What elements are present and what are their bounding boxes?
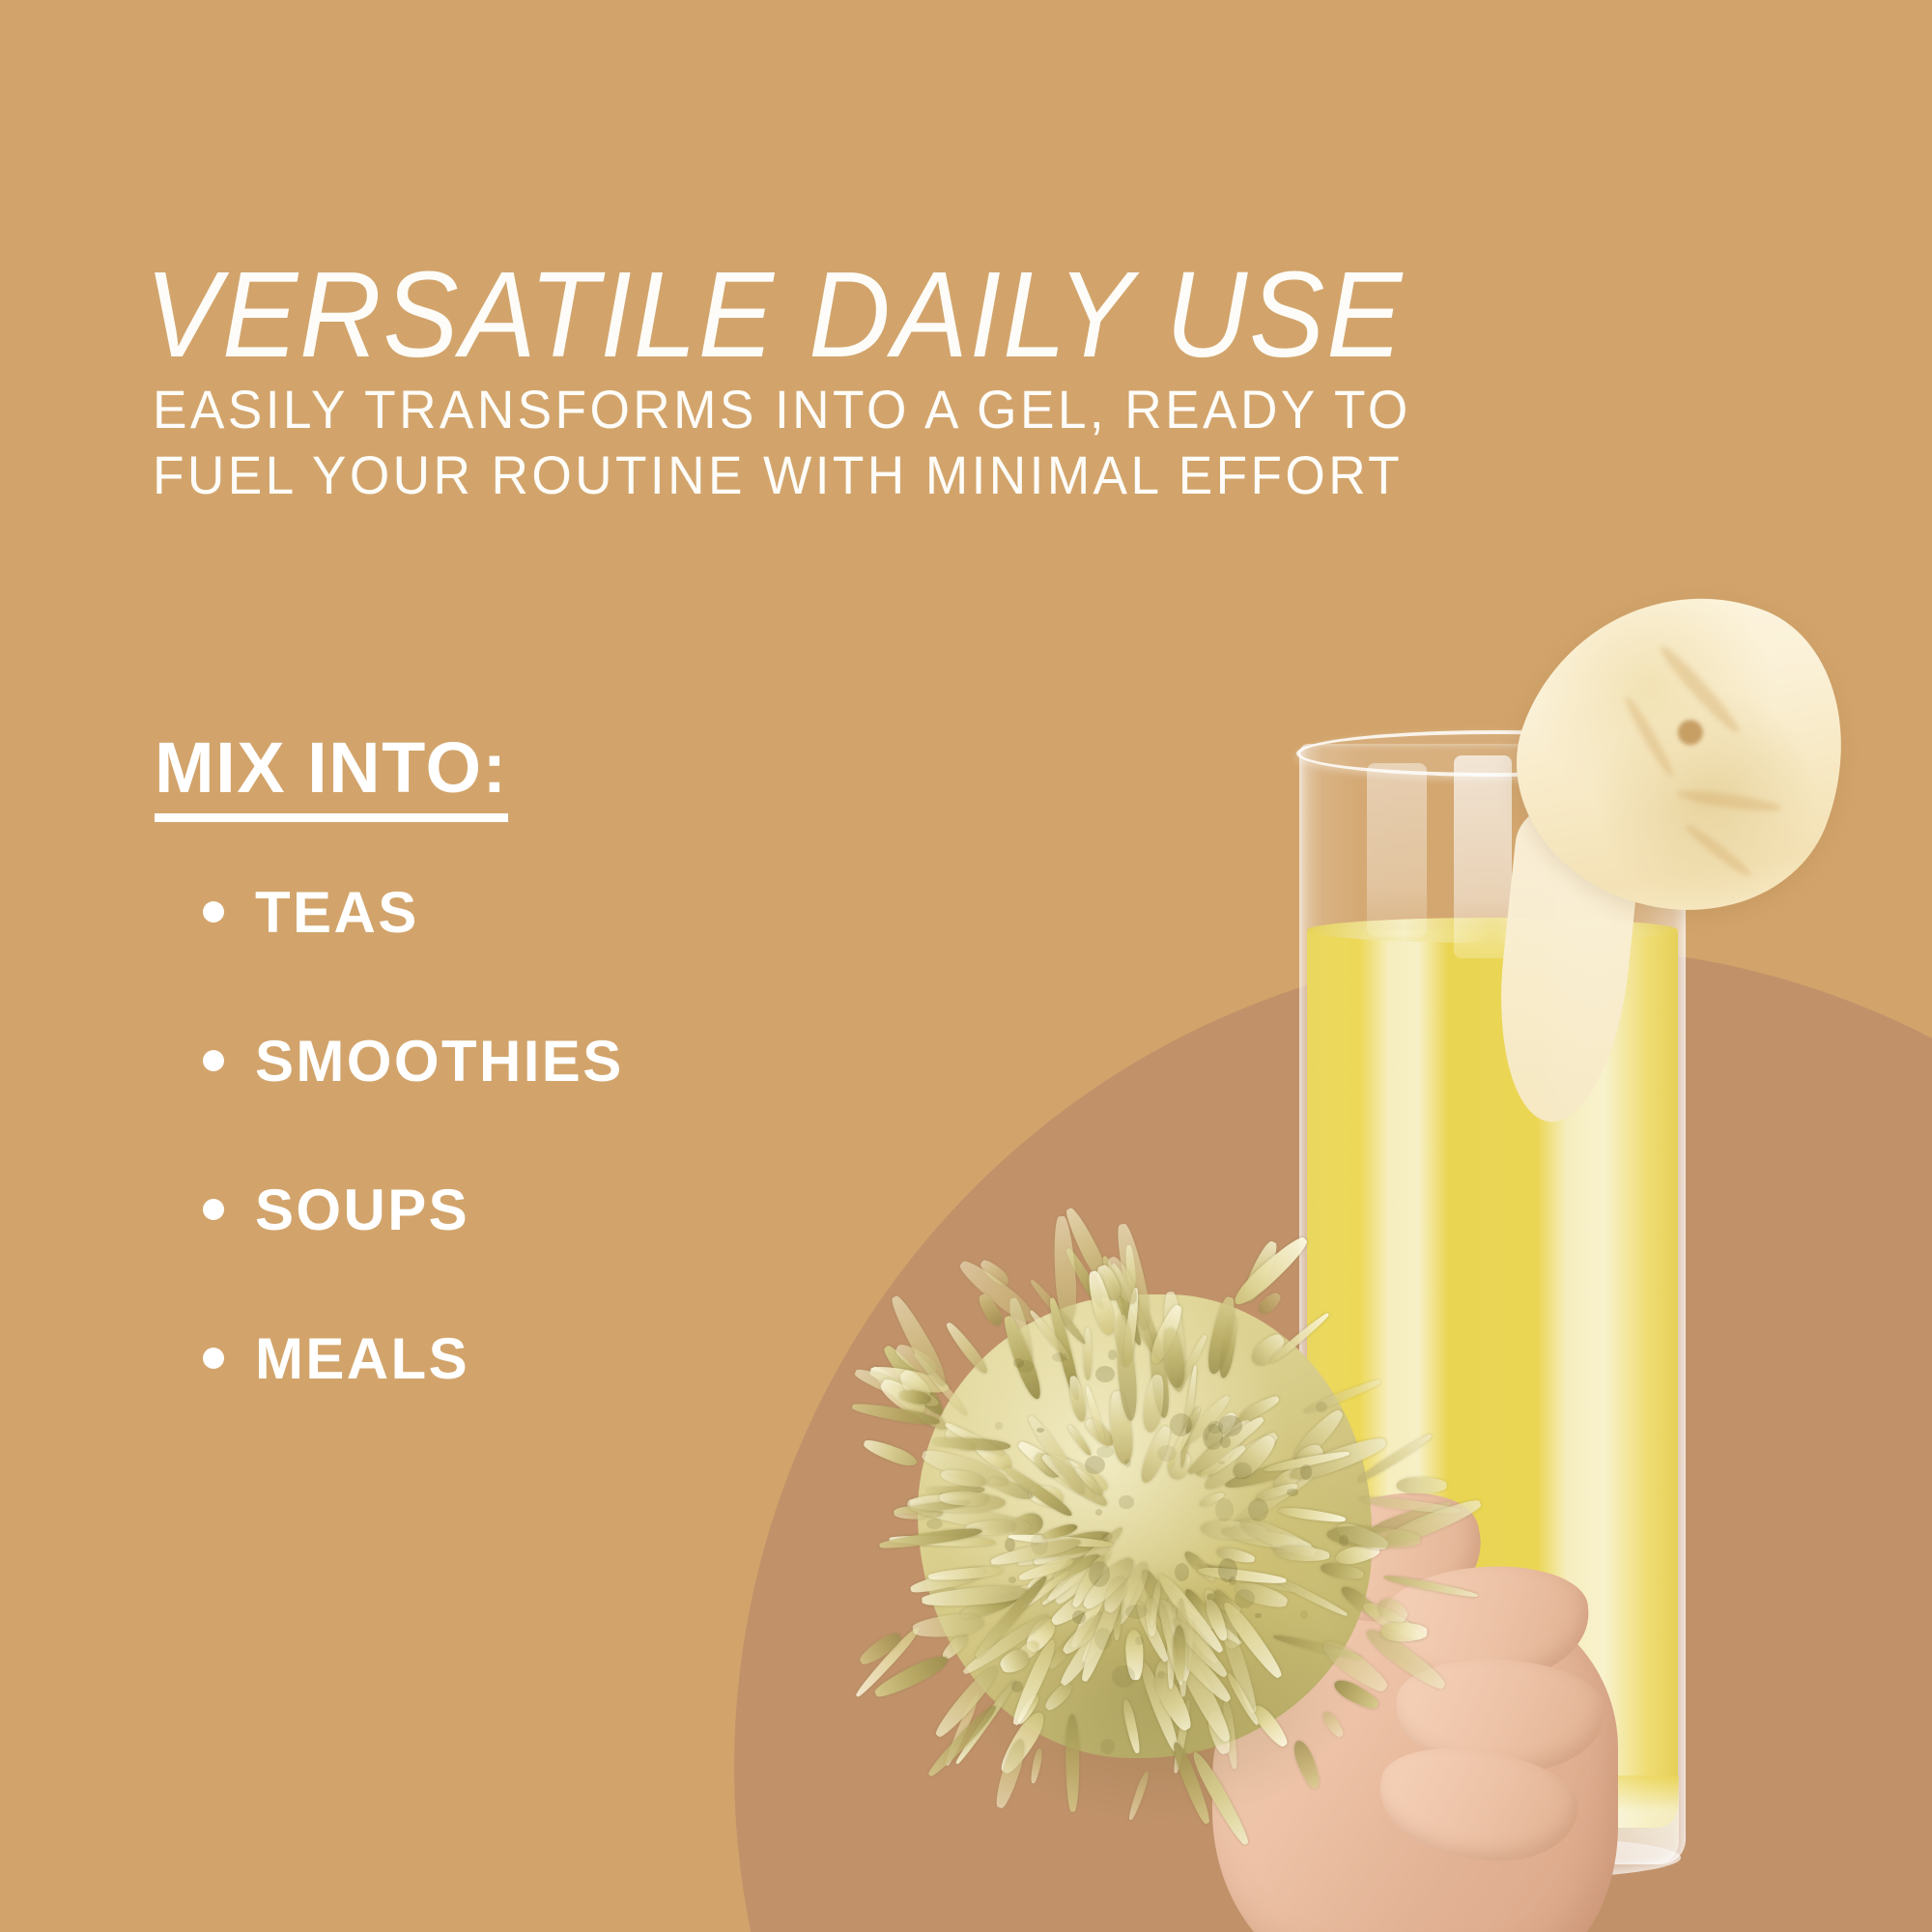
sea-moss-frond xyxy=(1125,1629,1145,1680)
list-item: MEALS xyxy=(203,1301,937,1415)
sea-moss-frond xyxy=(1137,1661,1182,1753)
sea-moss-frond xyxy=(1112,1222,1154,1331)
sea-moss-pore xyxy=(1218,1415,1242,1436)
sea-moss-frond xyxy=(927,1565,1003,1582)
sea-moss-frond xyxy=(1255,1290,1283,1318)
sea-moss-frond xyxy=(955,1256,1039,1328)
sea-moss-frond xyxy=(1226,1672,1262,1727)
sea-moss-frond xyxy=(1355,1432,1433,1485)
sea-moss-frond xyxy=(1029,1747,1043,1783)
sea-moss-frond xyxy=(1141,1374,1167,1434)
sea-moss-pore xyxy=(1339,1535,1349,1547)
sea-moss-frond xyxy=(1051,1543,1117,1607)
sea-moss-frond xyxy=(1113,1595,1122,1640)
sea-moss-frond xyxy=(1201,1586,1244,1650)
sea-moss-frond xyxy=(1170,1643,1236,1746)
sea-moss-pore xyxy=(1157,1445,1177,1462)
sea-moss-frond xyxy=(1270,1464,1305,1495)
sea-moss-frond xyxy=(1247,1329,1289,1370)
sea-moss-frond xyxy=(1078,1570,1146,1665)
sea-moss-pore xyxy=(1220,1435,1231,1448)
sea-moss-frond xyxy=(1037,1548,1090,1608)
sea-moss-frond xyxy=(1209,1585,1248,1635)
sea-moss-frond xyxy=(1084,1328,1092,1380)
dried-banana-slice-icon xyxy=(1480,547,1889,955)
sea-moss-frond xyxy=(1278,1506,1347,1524)
sea-moss-frond xyxy=(1033,1538,1103,1568)
sea-moss-frond xyxy=(1168,1614,1230,1681)
sea-moss-frond xyxy=(1022,1613,1060,1656)
finger xyxy=(1372,1736,1585,1874)
sea-moss-frond xyxy=(1065,1715,1080,1812)
sea-moss-pore xyxy=(1037,1428,1044,1433)
sea-moss-frond xyxy=(1267,1311,1330,1365)
sea-moss-frond xyxy=(954,1678,1019,1766)
sea-moss-frond xyxy=(1047,1573,1120,1631)
sea-moss-frond xyxy=(1165,1406,1203,1471)
glass-reflection-icon xyxy=(1555,765,1611,939)
sea-moss-frond xyxy=(1320,1561,1365,1582)
sea-moss-frond xyxy=(1203,1409,1241,1452)
sea-moss-frond xyxy=(965,1520,1015,1537)
sea-moss-frond xyxy=(1028,1483,1065,1509)
sea-moss-frond xyxy=(1065,1423,1093,1457)
smoothie-liquid xyxy=(1307,929,1678,1828)
sea-moss-frond xyxy=(1107,1390,1136,1465)
sea-moss-pore xyxy=(926,1519,943,1529)
sea-moss-frond xyxy=(1126,1770,1151,1821)
sea-moss-frond xyxy=(978,1257,1012,1290)
sea-moss-frond xyxy=(1175,1334,1207,1389)
sea-moss-frond xyxy=(940,1491,989,1506)
list-item-label: SMOOTHIES xyxy=(255,1028,624,1094)
sea-moss-pore xyxy=(1085,1456,1105,1474)
banana-vein xyxy=(1682,821,1754,881)
sea-moss-frond xyxy=(925,1503,1032,1536)
list-item: SMOOTHIES xyxy=(203,1004,937,1118)
sea-moss-frond xyxy=(1179,1365,1199,1468)
sea-moss-frond xyxy=(1009,1532,1115,1548)
sea-moss-frond xyxy=(987,1475,1036,1503)
sea-moss-icon xyxy=(850,1236,1430,1855)
sea-moss-frond xyxy=(927,1486,985,1495)
palm xyxy=(1212,1594,1618,1932)
sea-moss-frond xyxy=(1164,1449,1194,1483)
sea-moss-frond xyxy=(1320,1709,1346,1739)
sea-moss-frond xyxy=(878,1526,982,1552)
sea-moss-frond xyxy=(905,1496,945,1520)
sea-moss-frond xyxy=(1290,1737,1323,1790)
sea-moss-frond xyxy=(1039,1450,1112,1510)
sea-moss-frond xyxy=(1051,1550,1102,1583)
sea-moss-frond xyxy=(1368,1498,1453,1538)
sea-moss-pore xyxy=(1031,1533,1048,1555)
sea-moss-frond xyxy=(1017,1555,1075,1583)
sea-moss-frond xyxy=(1056,1597,1130,1689)
sea-moss-frond xyxy=(1185,1413,1267,1478)
sea-moss-frond xyxy=(1118,1306,1139,1367)
bullet-icon xyxy=(203,901,224,923)
sea-moss-frond xyxy=(1147,1302,1186,1366)
sea-moss-pore xyxy=(1100,1739,1115,1753)
subtitle-line-2: FUEL YOUR ROUTINE WITH MINIMAL EFFORT xyxy=(153,442,1529,508)
sea-moss-frond xyxy=(910,1493,1006,1512)
sea-moss-frond xyxy=(857,1629,905,1668)
bullet-icon xyxy=(203,1199,224,1220)
sea-moss-frond xyxy=(992,1737,1030,1810)
sea-moss-frond xyxy=(1273,1544,1329,1563)
sea-moss-pore xyxy=(1170,1413,1192,1435)
sea-moss-frond xyxy=(933,1436,1010,1453)
sea-moss-frond xyxy=(1217,1619,1261,1715)
sea-moss-shading xyxy=(966,1555,1352,1826)
sea-moss-frond xyxy=(997,1647,1032,1678)
sea-moss-frond xyxy=(1269,1573,1349,1618)
sea-moss-frond xyxy=(1161,1291,1189,1392)
glass-body-icon xyxy=(1299,744,1686,1864)
sea-moss-frond xyxy=(973,1574,1051,1661)
sea-moss-frond xyxy=(1196,1560,1297,1595)
sea-moss-frond xyxy=(1072,1465,1105,1496)
list-item-label: MEALS xyxy=(255,1325,469,1392)
sea-moss-frond xyxy=(1181,1548,1218,1584)
sea-moss-frond xyxy=(1099,1255,1145,1348)
sea-moss-frond xyxy=(894,1498,972,1517)
sea-moss-frond xyxy=(1000,1314,1045,1402)
sea-moss-frond xyxy=(995,1708,1049,1777)
sea-moss-frond xyxy=(1024,1413,1089,1497)
sea-moss-frond xyxy=(1269,1532,1299,1555)
page-title: VERSATILE DAILY USE xyxy=(145,253,1672,378)
sea-moss-frond xyxy=(1014,1692,1041,1726)
sea-moss-frond xyxy=(1178,1611,1194,1682)
sea-moss-frond xyxy=(1122,1288,1141,1368)
sea-moss-frond xyxy=(1028,1308,1072,1362)
sea-moss-pore xyxy=(1175,1563,1189,1580)
sea-moss-frond xyxy=(1113,1315,1139,1422)
sea-moss-frond xyxy=(1046,1628,1086,1671)
sea-moss-frond xyxy=(1302,1378,1381,1415)
sea-moss-frond xyxy=(1272,1633,1362,1662)
sea-moss-pore xyxy=(1218,1558,1237,1582)
sea-moss-frond xyxy=(1025,1565,1058,1592)
sea-moss-frond xyxy=(970,1435,1015,1474)
sea-moss-frond xyxy=(1002,1463,1075,1520)
sea-moss-frond xyxy=(1217,1315,1240,1378)
sea-moss-frond xyxy=(942,1423,980,1455)
sea-moss-frond xyxy=(1203,1597,1232,1643)
sea-moss-frond xyxy=(1109,1262,1158,1352)
subtitle-line-1: EASILY TRANSFORMS INTO A GEL, READY TO xyxy=(153,377,1529,442)
sea-moss-frond xyxy=(1014,1437,1099,1504)
sea-moss-frond xyxy=(1223,1450,1329,1492)
sea-moss-pore xyxy=(1203,1424,1223,1450)
sea-moss-frond xyxy=(1232,1578,1289,1611)
sea-moss-frond xyxy=(1036,1527,1115,1562)
sea-moss-frond xyxy=(1060,1456,1100,1492)
sea-moss-frond xyxy=(1188,1748,1253,1847)
sea-moss-frond xyxy=(1121,1699,1142,1754)
sea-moss-pore xyxy=(1233,1463,1251,1479)
sea-moss-frond xyxy=(943,1420,1006,1458)
glass-reflection-icon xyxy=(1454,755,1512,958)
sea-moss-pore xyxy=(1096,1446,1114,1458)
sea-moss-pore xyxy=(1094,1628,1112,1650)
banana-slice-tail xyxy=(1487,798,1645,1128)
sea-moss-frond xyxy=(958,1588,1021,1624)
sea-moss-frond xyxy=(1010,1511,1046,1539)
list-item: TEAS xyxy=(203,855,937,969)
sea-moss-frond xyxy=(1249,1701,1292,1749)
sea-moss-frond xyxy=(976,1292,1007,1329)
sea-moss-pore xyxy=(1089,1561,1111,1587)
sea-moss-frond xyxy=(1046,1296,1083,1401)
sea-moss-pore xyxy=(1157,1670,1165,1679)
sea-moss-frond xyxy=(1169,1741,1213,1827)
sea-moss-pore xyxy=(1135,1636,1144,1645)
sea-moss-frond xyxy=(1124,1245,1137,1292)
promo-poster: VERSATILE DAILY USE EASILY TRANSFORMS IN… xyxy=(0,0,1932,1932)
sea-moss-frond xyxy=(1229,1431,1280,1483)
sea-moss-frond xyxy=(1198,1442,1248,1481)
sea-moss-frond xyxy=(1042,1680,1075,1714)
sea-moss-frond xyxy=(1289,1406,1348,1466)
sea-moss-frond xyxy=(1318,1635,1391,1697)
sea-moss-frond xyxy=(920,1444,1012,1492)
sea-moss-frond xyxy=(894,1505,933,1520)
banana-body xyxy=(1480,547,1889,955)
sea-moss-frond xyxy=(1147,1334,1172,1420)
sea-moss-frond xyxy=(989,1535,1082,1569)
sea-moss-frond xyxy=(1134,1302,1166,1364)
sea-moss-frond xyxy=(1100,1574,1130,1615)
sea-moss-frond xyxy=(1083,1386,1106,1441)
sea-moss-frond xyxy=(1362,1623,1450,1694)
sea-moss-frond xyxy=(1137,1424,1175,1486)
sea-moss-pore xyxy=(1248,1498,1268,1522)
sea-moss-pore xyxy=(1095,1366,1115,1382)
sea-moss-frond xyxy=(1150,1669,1196,1734)
sea-moss-frond xyxy=(1078,1580,1129,1684)
sea-moss-frond xyxy=(1166,1585,1176,1689)
sea-moss-frond xyxy=(924,1701,1000,1779)
sea-moss-frond xyxy=(1359,1493,1461,1516)
sea-moss-frond xyxy=(1137,1566,1179,1629)
sea-moss-frond xyxy=(1287,1433,1389,1487)
sea-moss-frond xyxy=(1109,1559,1153,1629)
sea-moss-frond xyxy=(944,1691,982,1768)
finger xyxy=(1393,1654,1607,1776)
sea-moss-frond xyxy=(1069,1552,1109,1608)
sea-moss-pore xyxy=(1119,1495,1133,1510)
sea-moss-frond xyxy=(1044,1522,1127,1605)
sea-moss-pore xyxy=(1229,1577,1236,1585)
sea-moss-frond xyxy=(1066,1375,1089,1423)
sea-moss-frond xyxy=(1330,1675,1381,1713)
sea-moss-pore xyxy=(1108,1350,1117,1360)
sea-moss-frond xyxy=(1383,1574,1478,1600)
sea-moss-frond xyxy=(1100,1267,1134,1363)
sea-moss-frond xyxy=(1335,1542,1382,1567)
sea-moss-frond xyxy=(1215,1546,1256,1566)
sea-moss-pore xyxy=(1124,1459,1131,1467)
sea-moss-frond xyxy=(1374,1595,1410,1628)
sea-moss-frond xyxy=(1094,1263,1125,1303)
sea-moss-frond xyxy=(1041,1521,1078,1542)
sea-moss-frond xyxy=(1207,1453,1231,1479)
list-item-label: TEAS xyxy=(255,879,419,946)
sea-moss-pore xyxy=(1013,1358,1024,1369)
sea-moss-frond xyxy=(1182,1587,1219,1632)
sea-moss-frond xyxy=(1102,1264,1146,1326)
sea-moss-frond xyxy=(1221,1698,1240,1769)
sea-moss-frond xyxy=(1198,1491,1225,1509)
sea-moss-frond xyxy=(1079,1553,1139,1614)
sea-moss-pore xyxy=(1009,1577,1016,1584)
sea-moss-frond xyxy=(1229,1232,1312,1310)
sea-moss-pore xyxy=(1255,1613,1262,1619)
sea-moss-frond xyxy=(1205,1708,1234,1755)
sea-moss-pore xyxy=(1316,1402,1327,1413)
sea-moss-frond xyxy=(1360,1598,1426,1645)
sea-moss-frond xyxy=(1156,1604,1184,1687)
sea-moss-frond xyxy=(1338,1582,1382,1621)
sea-moss-frond xyxy=(1173,1626,1186,1681)
sea-moss-frond xyxy=(960,1610,1052,1678)
sea-moss-frond xyxy=(1184,1406,1202,1435)
sea-moss-pore xyxy=(1011,1681,1023,1692)
sea-moss-frond xyxy=(1157,1580,1243,1647)
sea-moss-frond xyxy=(1231,1463,1322,1530)
sea-moss-pore xyxy=(1300,1464,1313,1479)
sea-moss-frond xyxy=(1197,1566,1287,1587)
banana-vein xyxy=(1655,641,1744,738)
sea-moss-frond xyxy=(1160,1327,1188,1389)
sea-moss-pore xyxy=(1112,1665,1136,1688)
sea-moss-frond xyxy=(912,1611,985,1640)
sea-moss-frond xyxy=(1190,1414,1258,1482)
sea-moss-frond xyxy=(1084,1269,1117,1337)
sea-moss-frond xyxy=(940,1466,987,1489)
sea-moss-frond xyxy=(1031,1449,1065,1482)
sea-moss-frond xyxy=(1154,1571,1227,1657)
sea-moss-frond xyxy=(1254,1481,1298,1503)
hand-icon xyxy=(1154,1478,1657,1932)
glass-base xyxy=(1306,1776,1679,1864)
mix-into-list: TEASSMOOTHIESSOUPSMEALS xyxy=(203,855,937,1450)
sea-moss-frond xyxy=(1062,1206,1113,1287)
sea-moss-core xyxy=(918,1294,1372,1758)
sea-moss-frond xyxy=(1006,1296,1037,1372)
sea-moss-frond xyxy=(1082,1416,1117,1451)
sea-moss-frond xyxy=(1207,1595,1243,1651)
sea-moss-pore xyxy=(1215,1498,1234,1521)
sea-moss-pore xyxy=(1072,1610,1087,1625)
sea-moss-frond xyxy=(1028,1277,1089,1347)
sea-moss-frond xyxy=(1397,1477,1447,1493)
sea-moss-pore xyxy=(1125,1605,1148,1619)
sea-moss-frond xyxy=(1059,1609,1111,1659)
sea-moss-frond xyxy=(1040,1551,1111,1606)
banana-vein xyxy=(1675,787,1782,815)
sea-moss-frond xyxy=(1103,1254,1142,1308)
sea-moss-pore xyxy=(1207,1421,1223,1434)
sea-moss-pore xyxy=(1017,1360,1033,1373)
sea-moss-frond xyxy=(1263,1449,1350,1474)
sea-moss-frond xyxy=(871,1651,951,1702)
sea-moss-frond xyxy=(1012,1638,1041,1665)
sea-moss-pore xyxy=(1300,1610,1308,1620)
sea-moss-frond xyxy=(1017,1548,1080,1568)
sea-moss-frond xyxy=(980,1575,1074,1607)
sea-moss-frond xyxy=(1200,1520,1266,1542)
bullet-icon xyxy=(203,1050,224,1071)
finger xyxy=(1289,1478,1493,1637)
list-item-label: SOUPS xyxy=(255,1177,469,1243)
sea-moss-pore xyxy=(1005,1538,1015,1551)
sea-moss-pore xyxy=(1235,1589,1255,1608)
sea-moss-frond xyxy=(1220,1599,1287,1682)
sea-moss-pore xyxy=(995,1422,1003,1431)
sea-moss-pore xyxy=(1102,1534,1108,1542)
sea-moss-frond xyxy=(1020,1568,1071,1610)
sea-moss-frond xyxy=(1293,1440,1327,1471)
sea-moss-frond xyxy=(1177,1597,1188,1696)
sea-moss-frond xyxy=(944,1321,991,1378)
sea-moss-frond xyxy=(1166,1633,1236,1706)
sea-moss-frond xyxy=(1378,1494,1484,1551)
sea-moss-frond xyxy=(1009,1637,1061,1728)
page-subtitle: EASILY TRANSFORMS INTO A GEL, READY TO F… xyxy=(153,377,1529,509)
sea-moss-frond xyxy=(1154,1660,1172,1701)
finger xyxy=(1378,1560,1593,1690)
sea-moss-frond xyxy=(1220,1523,1312,1554)
sea-moss-frond xyxy=(922,1583,1030,1608)
sea-moss-frond xyxy=(1203,1418,1233,1443)
sea-moss-frond xyxy=(939,1631,970,1662)
sea-moss-pore xyxy=(1095,1509,1103,1517)
sea-moss-frond xyxy=(1380,1622,1428,1642)
sea-moss-frond xyxy=(1067,1574,1116,1650)
sea-moss-frond xyxy=(1168,1604,1220,1666)
sea-moss-frond xyxy=(853,1624,923,1699)
sea-moss-pore xyxy=(1287,1489,1298,1495)
list-item: SOUPS xyxy=(203,1152,937,1266)
sea-moss-frond xyxy=(1064,1246,1108,1311)
sea-moss-frond xyxy=(1133,1601,1172,1663)
glass-rim xyxy=(1296,730,1696,777)
glass-foot xyxy=(1304,1835,1681,1880)
banana-seed-mark xyxy=(1674,716,1706,748)
mix-into-heading: MIX INTO: xyxy=(155,731,508,822)
sea-moss-frond xyxy=(1148,1579,1162,1626)
glass-reflection-icon xyxy=(1367,763,1427,937)
sea-moss-frond xyxy=(1334,1520,1391,1554)
sea-moss-frond xyxy=(1239,1238,1282,1305)
sea-moss-frond xyxy=(1042,1450,1111,1498)
sea-moss-pore xyxy=(1218,1461,1225,1464)
sea-moss-frond xyxy=(1154,1597,1188,1650)
sea-moss-frond xyxy=(1051,1216,1078,1325)
sea-moss-frond xyxy=(1205,1590,1243,1617)
sea-moss-frond xyxy=(890,1535,997,1548)
sea-moss-frond xyxy=(923,1586,960,1608)
banana-vein xyxy=(1621,695,1677,781)
sea-moss-frond xyxy=(1201,1428,1282,1494)
sea-moss-frond xyxy=(1204,1295,1238,1376)
bullet-icon xyxy=(203,1348,224,1369)
sea-moss-frond xyxy=(1327,1523,1422,1550)
